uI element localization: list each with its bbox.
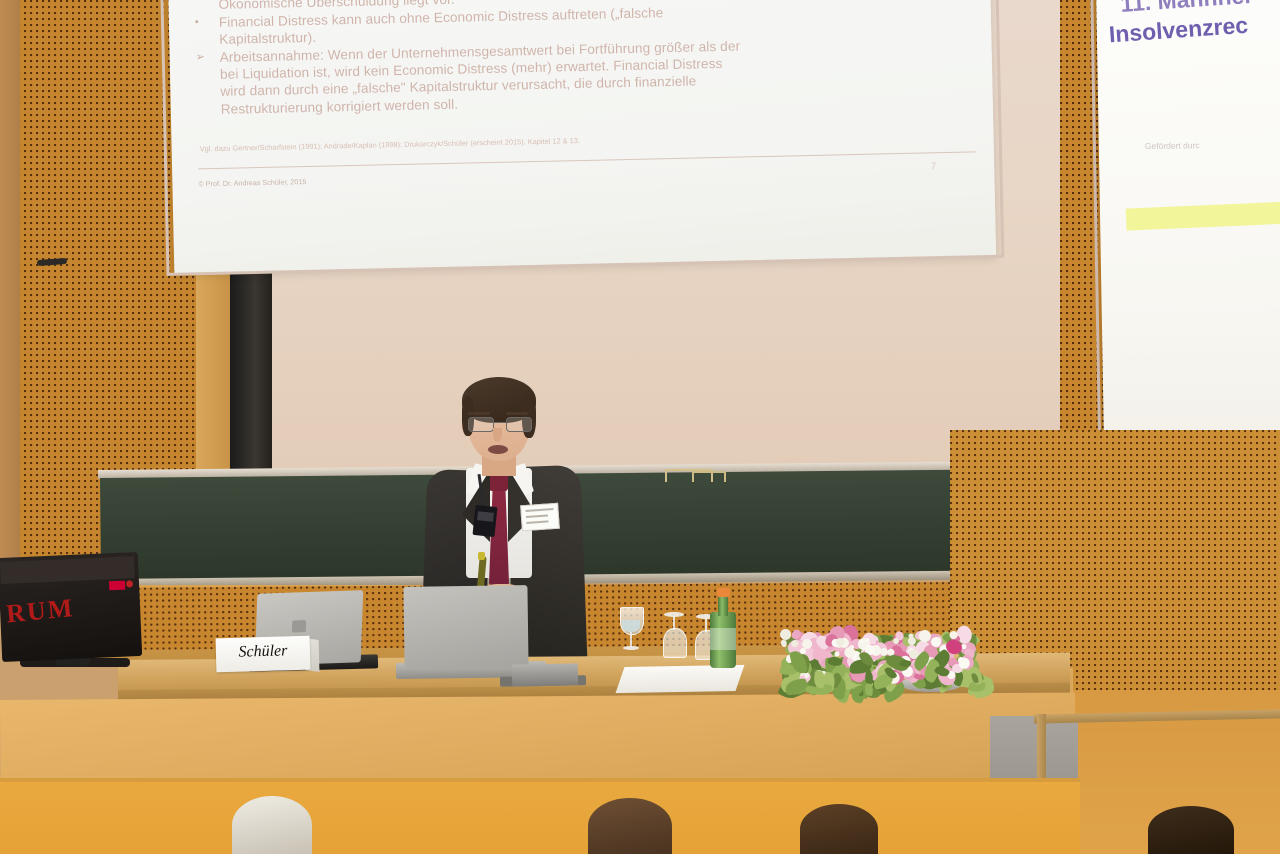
- projection-screen-left: in absehbarer Zeit nicht mehr bedienen k…: [168, 0, 996, 274]
- projection-screen-right: 11. Mannhei Insolvenzrec Gefördert durc: [1096, 0, 1280, 439]
- laptop-stand: [512, 663, 578, 686]
- inverted-glass-1-bowl: [663, 628, 687, 658]
- floor: [0, 782, 1080, 854]
- monitor-power-led: [109, 581, 125, 591]
- presenter-eyebrow-left: [468, 412, 490, 415]
- laptop-left-logo: [292, 620, 306, 633]
- presenter-name-badge: [520, 503, 560, 532]
- water-glass-foot: [623, 646, 639, 650]
- water-glass[interactable]: [620, 607, 642, 651]
- presenter-lanyard-card: [472, 505, 497, 537]
- glasses-lens-left: [468, 417, 494, 432]
- presenter-tie: [489, 488, 509, 596]
- slide-page-number: 7: [931, 161, 937, 172]
- slide-accent-band: [1126, 198, 1280, 230]
- monitor-status-led: [126, 580, 133, 587]
- right-slide-sponsor: Gefördert durc: [1145, 140, 1200, 151]
- monitor[interactable]: RUM: [0, 552, 142, 662]
- presenter-pen-cap: [478, 552, 485, 560]
- presenter-tie-knot: [489, 474, 508, 491]
- presenter-mouth: [488, 445, 508, 454]
- audience-head-4: [1148, 806, 1234, 854]
- audience-head-3: [800, 804, 878, 854]
- monitor-label: RUM: [5, 593, 76, 629]
- napkin: [616, 665, 745, 693]
- wall-edge-left: [0, 0, 20, 610]
- flower-arrangement: [778, 614, 976, 688]
- slide-reference: Vgl. dazu Gertner/Scharfstein (1991); An…: [200, 128, 976, 155]
- laptop-right-lid[interactable]: [403, 585, 528, 669]
- monitor-bezel: [0, 556, 135, 584]
- bottle-cap: [717, 588, 730, 597]
- presenter-eyebrow-right: [506, 412, 528, 415]
- water-glass-stem: [630, 632, 632, 647]
- audience-head-2: [588, 798, 672, 854]
- name-placard-label: Schüler: [216, 642, 310, 663]
- glasses-lens-right: [506, 417, 532, 432]
- bullet-marker-arrow: ➢: [195, 49, 221, 119]
- audience-head-1: [232, 796, 312, 854]
- bullet-marker-dot: •: [195, 14, 220, 49]
- name-placard: Schüler: [216, 636, 311, 673]
- badge-text-line-2: [526, 514, 548, 518]
- slide-content: in absehbarer Zeit nicht mehr bedienen k…: [194, 0, 976, 189]
- glasses-bridge: [492, 422, 506, 423]
- inverted-glass-1[interactable]: [662, 612, 686, 658]
- badge-text-line-1: [525, 508, 553, 512]
- presenter-nose: [493, 428, 502, 442]
- lecture-hall-photo: in absehbarer Zeit nicht mehr bedienen k…: [0, 0, 1280, 854]
- water-glass-contents: [622, 620, 640, 632]
- bottle-neck: [718, 594, 728, 616]
- chalkboard-handle-secondary: [692, 471, 726, 482]
- mineral-water-bottle[interactable]: [710, 588, 736, 668]
- badge-text-line-3: [526, 520, 548, 524]
- flower-petal: [930, 637, 940, 647]
- bottle-label: [710, 628, 736, 650]
